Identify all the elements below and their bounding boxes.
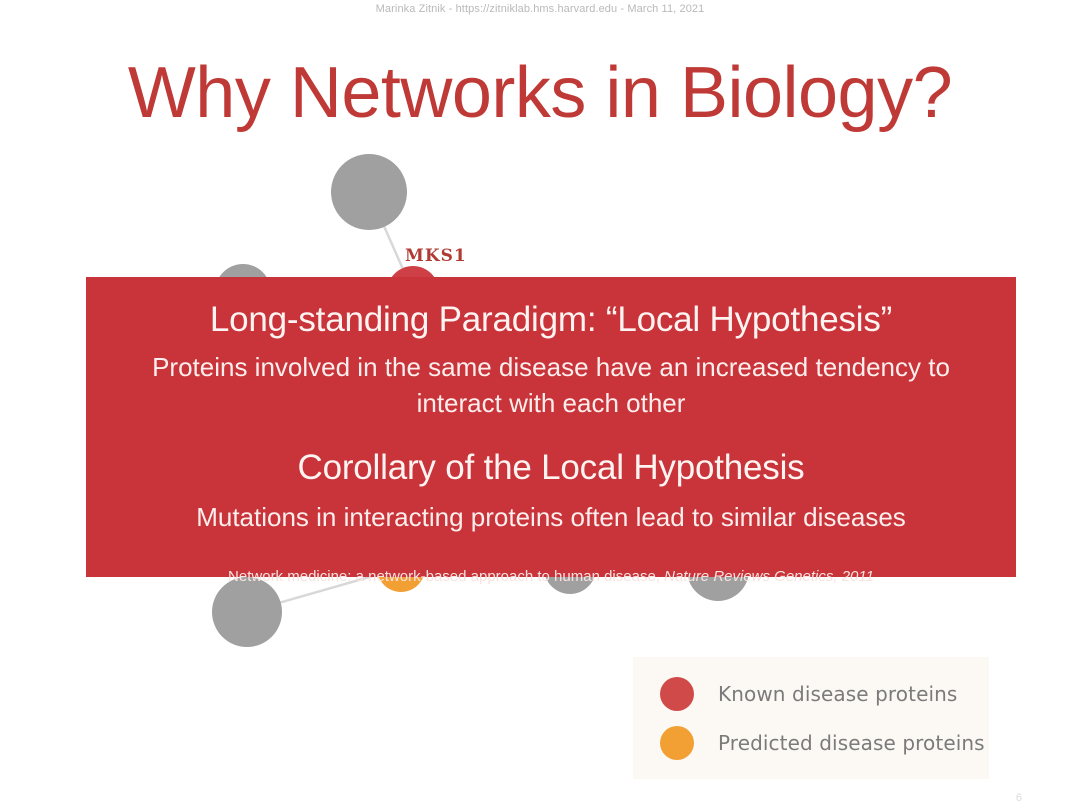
network-legend: Known disease proteins Predicted disease… <box>633 657 989 779</box>
callout-citation: Network medicine: a network-based approa… <box>112 567 990 587</box>
node-label-mks1: MKS1 <box>405 246 467 266</box>
local-hypothesis-callout: Long-standing Paradigm: “Local Hypothesi… <box>86 277 1016 577</box>
callout-body-paradigm: Proteins involved in the same disease ha… <box>112 349 990 421</box>
callout-heading-paradigm: Long-standing Paradigm: “Local Hypothesi… <box>112 295 990 345</box>
citation-journal: Nature Reviews Genetics, 2011 <box>664 568 874 585</box>
legend-label-known: Known disease proteins <box>718 682 957 706</box>
node-gray-top <box>331 154 407 230</box>
legend-item-predicted-disease-proteins: Predicted disease proteins <box>633 718 989 767</box>
legend-label-predicted: Predicted disease proteins <box>718 731 985 755</box>
legend-swatch-known-icon <box>660 677 694 711</box>
callout-body-corollary: Mutations in interacting proteins often … <box>112 499 990 535</box>
callout-heading-corollary: Corollary of the Local Hypothesis <box>112 443 990 493</box>
citation-title: Network medicine: a network-based approa… <box>228 568 664 585</box>
legend-swatch-predicted-icon <box>660 726 694 760</box>
node-gray-bottom-left <box>212 577 282 647</box>
slide-page-number: 6 <box>1016 792 1022 804</box>
legend-item-known-disease-proteins: Known disease proteins <box>633 669 989 718</box>
